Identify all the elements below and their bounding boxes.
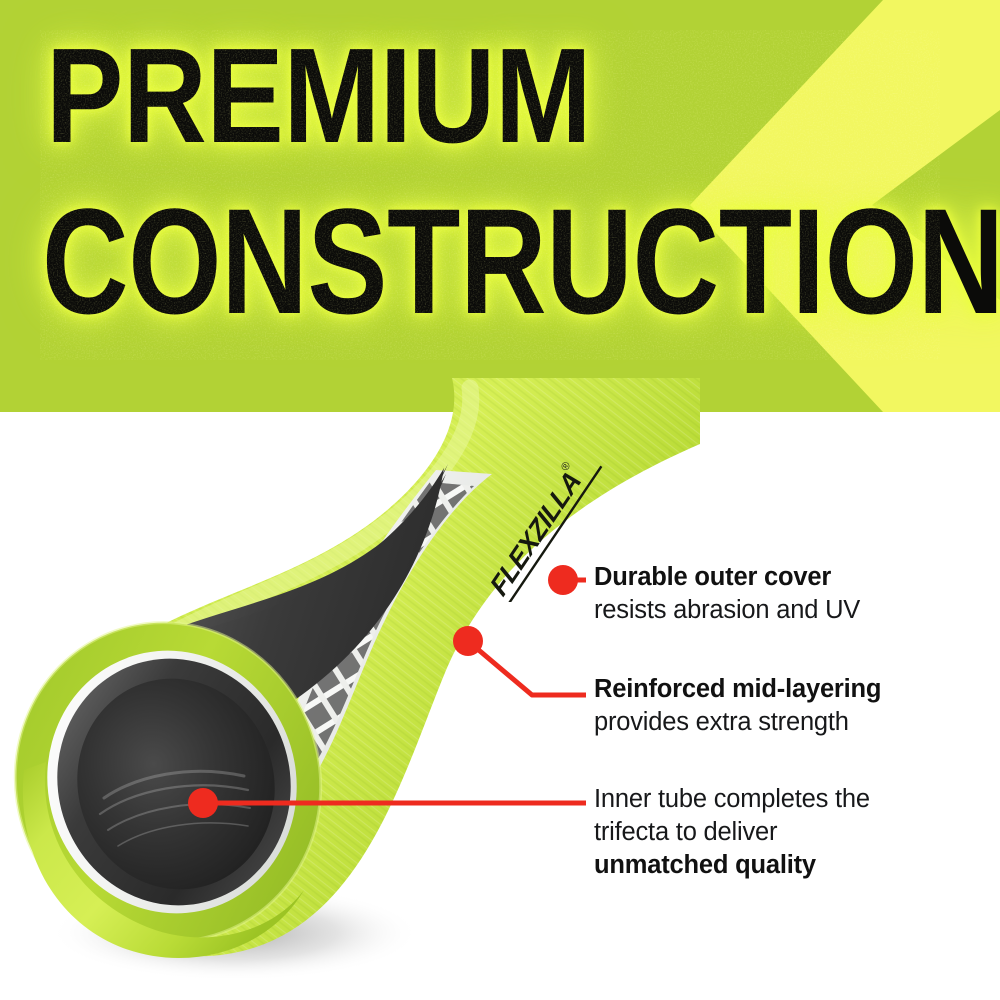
callout-mid-layering: Reinforced mid-layering provides extra s… xyxy=(594,673,994,739)
callout-outer-cover-strong: Durable outer cover xyxy=(594,561,994,594)
callout-mid-layering-regular: provides extra strength xyxy=(594,706,994,739)
callout-inner-tube: Inner tube completes the trifecta to del… xyxy=(594,783,994,882)
flexzilla-wordmark: FLEXZILLA xyxy=(484,465,587,602)
callout-mid-layering-strong: Reinforced mid-layering xyxy=(594,673,994,706)
callout-inner-tube-line2: trifecta to deliver xyxy=(594,816,994,849)
callout-inner-tube-strong: unmatched quality xyxy=(594,849,994,882)
product-infographic: PREMIUM CONSTRUCTION xyxy=(0,0,1000,1000)
callout-outer-cover: Durable outer cover resists abrasion and… xyxy=(594,561,994,627)
callout-inner-tube-line1: Inner tube completes the xyxy=(594,783,994,816)
callout-outer-cover-regular: resists abrasion and UV xyxy=(594,594,994,627)
callout-text-group: Durable outer cover resists abrasion and… xyxy=(594,0,1000,1000)
